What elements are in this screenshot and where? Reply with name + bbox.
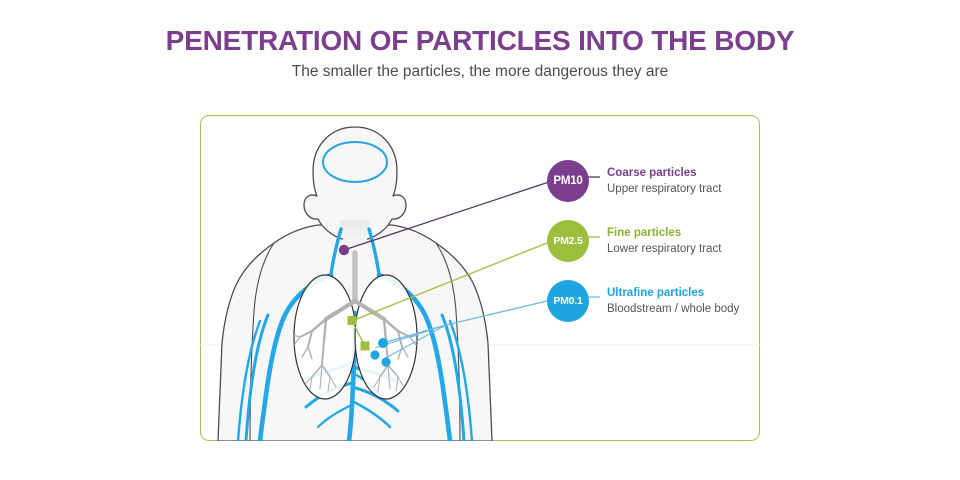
- legend-title-pm25: Fine particles: [607, 226, 721, 241]
- dot-pm01-c: [381, 357, 390, 366]
- legend-title-pm01: Ultrafine particles: [607, 286, 739, 301]
- page-title: PENETRATION OF PARTICLES INTO THE BODY: [0, 26, 960, 56]
- legend-item-pm10[interactable]: PM10 Coarse particles Upper respiratory …: [547, 160, 721, 202]
- header: PENETRATION OF PARTICLES INTO THE BODY T…: [0, 26, 960, 82]
- legend-item-pm01[interactable]: PM0.1 Ultrafine particles Bloodstream / …: [547, 280, 739, 322]
- legend-title-pm10: Coarse particles: [607, 166, 721, 181]
- dot-pm10: [339, 245, 349, 255]
- page-subtitle: The smaller the particles, the more dang…: [0, 63, 960, 82]
- legend-subtitle-pm25: Lower respiratory tract: [607, 242, 721, 257]
- legend-text-pm10: Coarse particles Upper respiratory tract: [607, 166, 721, 196]
- legend-item-pm25[interactable]: PM2.5 Fine particles Lower respiratory t…: [547, 220, 721, 262]
- legend-subtitle-pm01: Bloodstream / whole body: [607, 302, 739, 317]
- legend-subtitle-pm10: Upper respiratory tract: [607, 182, 721, 197]
- legend-text-pm25: Fine particles Lower respiratory tract: [607, 226, 721, 256]
- badge-pm01: PM0.1: [547, 280, 589, 322]
- legend-text-pm01: Ultrafine particles Bloodstream / whole …: [607, 286, 739, 316]
- infographic-root: PENETRATION OF PARTICLES INTO THE BODY T…: [0, 0, 960, 480]
- badge-pm25: PM2.5: [547, 220, 589, 262]
- dot-pm01-a: [378, 338, 388, 348]
- badge-pm10: PM10: [547, 160, 589, 202]
- dot-pm01-b: [370, 350, 379, 359]
- dot-pm25-upper: [348, 316, 357, 325]
- dot-pm25-lower: [361, 342, 370, 351]
